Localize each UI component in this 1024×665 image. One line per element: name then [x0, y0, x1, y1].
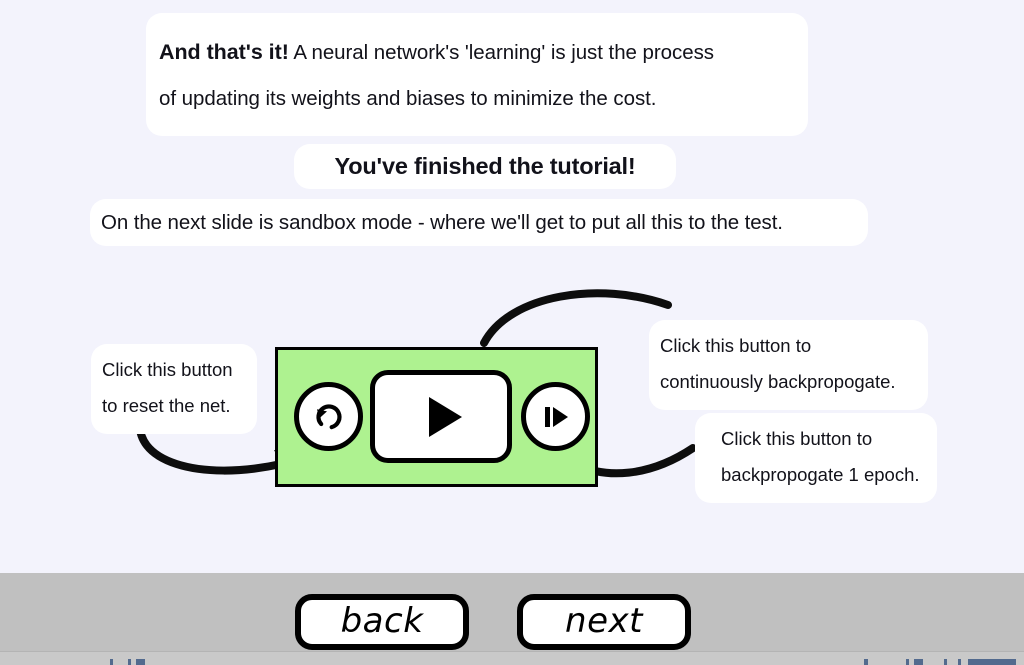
strip-mark: [110, 659, 113, 665]
step-forward-icon: [537, 398, 575, 436]
intro-line-2: of updating its weights and biases to mi…: [159, 76, 795, 122]
network-control-panel: [275, 347, 598, 487]
callout-epoch-line-1: Click this button to: [708, 421, 924, 457]
reset-net-button[interactable]: [294, 382, 363, 451]
callout-reset-line-1: Click this button: [102, 352, 246, 388]
step-one-epoch-button[interactable]: [521, 382, 590, 451]
callout-continuous-line-2: continuously backpropogate.: [660, 364, 917, 400]
tutorial-finished-bubble: You've finished the tutorial!: [294, 144, 676, 189]
callout-epoch-line-2: backpropogate 1 epoch.: [708, 457, 924, 493]
callout-continuous-line-1: Click this button to: [660, 328, 917, 364]
back-button[interactable]: back: [295, 594, 469, 650]
strip-mark: [958, 659, 961, 665]
slide-navigation-footer: back next: [0, 573, 1024, 651]
strip-mark: [136, 659, 145, 665]
tutorial-finished-text: You've finished the tutorial!: [335, 153, 636, 180]
reset-circular-arrow-icon: [309, 397, 349, 437]
callout-single-epoch: Click this button to backpropogate 1 epo…: [695, 413, 937, 503]
intro-lead: And that's it!: [159, 40, 289, 64]
sandbox-info-bubble: On the next slide is sandbox mode - wher…: [90, 199, 868, 246]
callout-reset-line-2: to reset the net.: [102, 388, 246, 424]
arrow-to-play-button: [484, 293, 668, 343]
strip-mark: [914, 659, 923, 665]
sandbox-info-text: On the next slide is sandbox mode - wher…: [101, 211, 783, 235]
callout-reset-button: Click this button to reset the net.: [91, 344, 257, 434]
intro-text-bubble: And that's it! A neural network's 'learn…: [146, 13, 808, 136]
clipped-bottom-strip: [0, 651, 1024, 665]
strip-mark: [968, 659, 1016, 665]
strip-mark: [128, 659, 131, 665]
strip-mark: [864, 659, 868, 665]
strip-mark: [906, 659, 909, 665]
play-continuous-backprop-button[interactable]: [370, 370, 512, 463]
next-button[interactable]: next: [517, 594, 691, 650]
slide-stage: And that's it! A neural network's 'learn…: [0, 0, 1024, 573]
intro-line-1: And that's it! A neural network's 'learn…: [159, 29, 795, 76]
intro-line-1-rest: A neural network's 'learning' is just th…: [289, 41, 714, 64]
callout-continuous-backprop: Click this button to continuously backpr…: [649, 320, 928, 410]
play-triangle-icon: [412, 388, 470, 446]
strip-mark: [944, 659, 947, 665]
